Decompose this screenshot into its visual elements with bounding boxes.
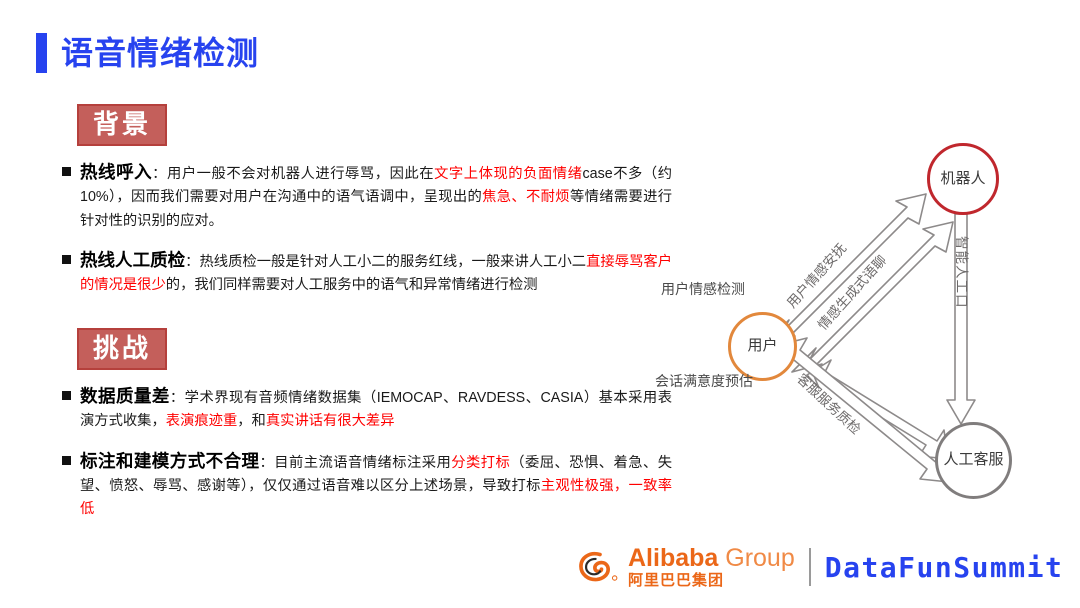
bullet-lead: 数据质量差 bbox=[80, 386, 170, 406]
bullet-text: 标注和建模方式不合理：目前主流语音情绪标注采用分类打标（委屈、恐惧、着急、失望、… bbox=[80, 447, 672, 522]
alibaba-mark-icon bbox=[578, 550, 622, 584]
diagram-node-user-label: 用户 bbox=[747, 338, 777, 355]
list-item: 标注和建模方式不合理：目前主流语音情绪标注采用分类打标（委屈、恐惧、着急、失望、… bbox=[62, 447, 672, 522]
bullet-part-highlight: 分类打标 bbox=[451, 455, 510, 471]
bullet-lead: 热线呼入 bbox=[80, 162, 152, 182]
bullet-square-icon bbox=[62, 391, 71, 400]
section-chip-background: 背景 bbox=[77, 104, 167, 146]
list-item: 热线人工质检：热线质检一般是针对人工小二的服务红线，一般来讲人工小二直接辱骂客户… bbox=[62, 246, 672, 298]
title-accent-bar bbox=[36, 33, 47, 73]
diagram-node-agent[interactable]: 人工客服 bbox=[935, 422, 1012, 499]
alibaba-cn: 阿里巴巴集团 bbox=[628, 573, 795, 588]
bullet-part: ：用户一般不会对机器人进行辱骂，因此在 bbox=[152, 166, 434, 182]
bullet-text: 数据质量差：学术界现有音频情绪数据集（IEMOCAP、RAVDESS、CASIA… bbox=[80, 382, 672, 434]
slide-root: 语音情绪检测 背景 热线呼入：用户一般不会对机器人进行辱骂，因此在文字上体现的负… bbox=[0, 0, 1080, 608]
bullet-part: 的，我们同样需要对人工服务中的语气和异常情绪进行检测 bbox=[166, 277, 538, 293]
diagram-label-session-satisfaction: 会话满意度预估 bbox=[655, 371, 753, 391]
bullet-part: ，和 bbox=[237, 413, 266, 429]
arrow-agent-user bbox=[783, 338, 949, 482]
bullet-part: ：目前主流语音情绪标注采用 bbox=[260, 455, 452, 471]
title-text: 语音情绪检测 bbox=[61, 37, 259, 69]
interaction-flow-diagram: 机器人 用户 人工客服 用户情感检测 会话满意度预估 用户情感安抚 情感生成式语… bbox=[655, 132, 1055, 522]
section-chip-challenge: 挑战 bbox=[77, 328, 167, 370]
diagram-label-user-emotion-detect: 用户情感检测 bbox=[661, 279, 745, 299]
bullet-part-highlight: 真实讲话有很大差异 bbox=[266, 413, 395, 429]
diagram-node-agent-label: 人工客服 bbox=[943, 452, 1003, 469]
alibaba-wordmark: Alibaba Group bbox=[628, 546, 795, 571]
diagram-node-robot-label: 机器人 bbox=[940, 171, 985, 188]
bullet-square-icon bbox=[62, 255, 71, 264]
diagram-label-smart-human-entry: 智能人工口 bbox=[953, 236, 973, 309]
bullet-list-challenge: 数据质量差：学术界现有音频情绪数据集（IEMOCAP、RAVDESS、CASIA… bbox=[62, 382, 672, 534]
diagram-node-robot[interactable]: 机器人 bbox=[927, 143, 999, 215]
bullet-square-icon bbox=[62, 456, 71, 465]
bullet-square-icon bbox=[62, 167, 71, 176]
page-title: 语音情绪检测 bbox=[36, 33, 259, 73]
bullet-text: 热线呼入：用户一般不会对机器人进行辱骂，因此在文字上体现的负面情绪case不多（… bbox=[80, 158, 672, 233]
list-item: 热线呼入：用户一般不会对机器人进行辱骂，因此在文字上体现的负面情绪case不多（… bbox=[62, 158, 672, 233]
alibaba-logo: Alibaba Group 阿里巴巴集团 bbox=[578, 546, 795, 588]
footer: Alibaba Group 阿里巴巴集团 DataFunSummit bbox=[0, 542, 1080, 600]
bullet-list-background: 热线呼入：用户一般不会对机器人进行辱骂，因此在文字上体现的负面情绪case不多（… bbox=[62, 158, 672, 310]
footer-divider bbox=[809, 548, 811, 586]
bullet-part-highlight: 表演痕迹重 bbox=[166, 413, 237, 429]
bullet-part: ：热线质检一般是针对人工小二的服务红线，一般来讲人工小二 bbox=[185, 254, 586, 270]
bullet-part-highlight: 焦急、不耐烦 bbox=[482, 189, 570, 205]
bullet-lead: 热线人工质检 bbox=[80, 250, 185, 270]
bullet-text: 热线人工质检：热线质检一般是针对人工小二的服务红线，一般来讲人工小二直接辱骂客户… bbox=[80, 246, 672, 298]
datafun-summit-logo: DataFunSummit bbox=[825, 551, 1064, 584]
list-item: 数据质量差：学术界现有音频情绪数据集（IEMOCAP、RAVDESS、CASIA… bbox=[62, 382, 672, 434]
bullet-lead: 标注和建模方式不合理 bbox=[80, 451, 260, 471]
alibaba-en: Alibaba bbox=[628, 544, 718, 572]
bullet-part-highlight: 文字上体现的负面情绪 bbox=[434, 166, 582, 182]
alibaba-group: Group bbox=[725, 544, 794, 572]
